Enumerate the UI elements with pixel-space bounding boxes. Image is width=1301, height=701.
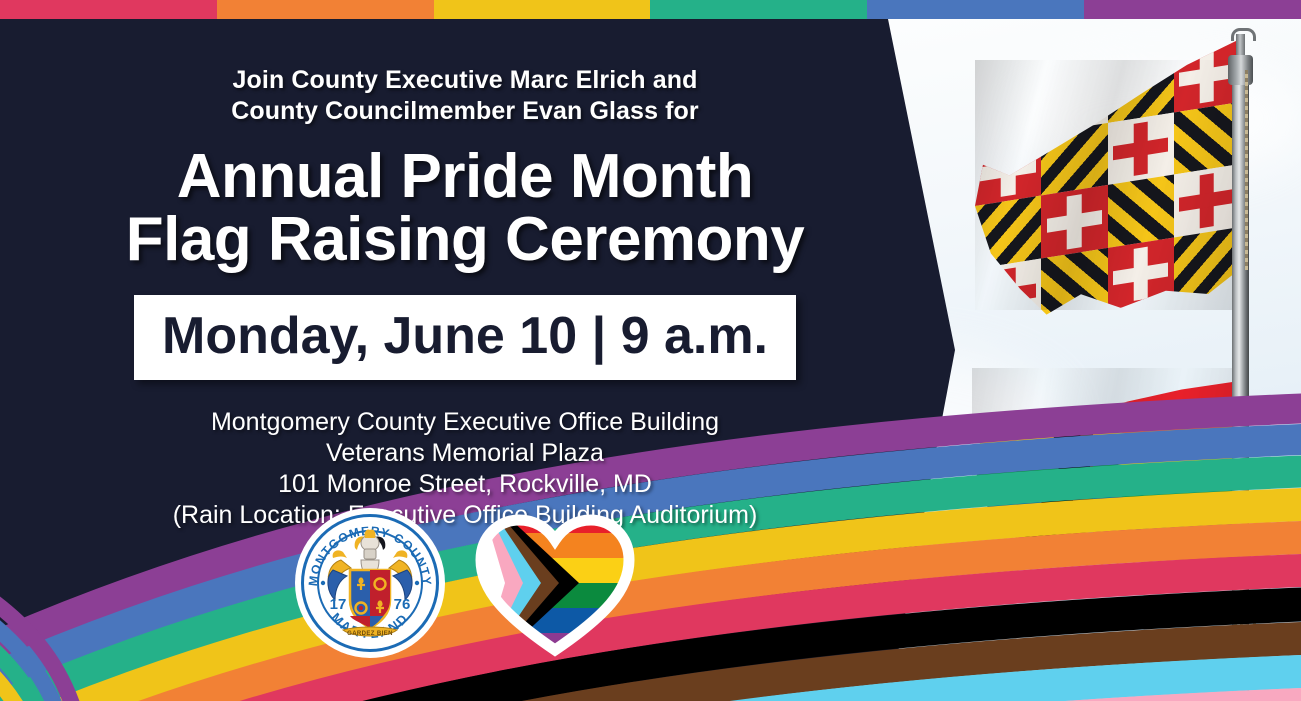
poster-text-content: Join County Executive Marc Elrich and Co… bbox=[0, 19, 930, 531]
flag-quarter bbox=[1041, 60, 1107, 133]
flag-quarter bbox=[1108, 50, 1174, 123]
seal-motto: GARDEZ BIEN bbox=[347, 631, 393, 637]
flag-quarter bbox=[1108, 175, 1174, 248]
halyard-loop bbox=[1234, 552, 1254, 582]
flag-quarter bbox=[975, 133, 1041, 206]
seal-motto-scroll: GARDEZ BIEN bbox=[343, 627, 397, 637]
stripe-band-green bbox=[650, 0, 867, 19]
halyard-loop bbox=[1234, 600, 1256, 640]
kicker-line-2: County Councilmember Evan Glass for bbox=[0, 96, 930, 127]
halyard-rope bbox=[1245, 70, 1248, 270]
pride-chevron-group bbox=[972, 354, 1093, 557]
venue-line-3: 101 Monroe Street, Rockville, MD bbox=[0, 469, 930, 500]
maryland-state-flag bbox=[975, 60, 1240, 310]
stripe-band-blue bbox=[867, 0, 1084, 19]
venue-line-2: Veterans Memorial Plaza bbox=[0, 438, 930, 469]
progress-pride-flag bbox=[972, 368, 1234, 558]
flag-quarter bbox=[1108, 112, 1174, 185]
heart-artwork bbox=[475, 508, 635, 658]
seal-year-right: 76 bbox=[394, 596, 411, 613]
headline-line-2: Flag Raising Ceremony bbox=[0, 208, 930, 271]
seal-year-left: 17 bbox=[330, 596, 347, 613]
flag-quarter bbox=[1174, 102, 1240, 175]
stripe-band-pink bbox=[0, 0, 217, 19]
seal-shield bbox=[350, 570, 390, 628]
progress-pride-heart-icon bbox=[475, 508, 635, 658]
stripe-band-yellow bbox=[434, 0, 651, 19]
flag-quarter bbox=[1108, 237, 1174, 310]
top-color-stripe bbox=[0, 0, 1301, 19]
flag-quarter bbox=[975, 70, 1041, 143]
stripe-band-purple bbox=[1084, 0, 1301, 19]
flag-quarter bbox=[975, 195, 1041, 268]
flag-quarter bbox=[1041, 248, 1107, 321]
seal-dot bbox=[321, 581, 325, 585]
kicker-line-1: Join County Executive Marc Elrich and bbox=[0, 19, 930, 96]
seal-artwork: MONTGOMERY COUNTY MARYLAND bbox=[295, 508, 445, 658]
flag-pole-cap bbox=[1228, 55, 1253, 85]
flag-quarter bbox=[1174, 227, 1240, 300]
date-time-banner: Monday, June 10 | 9 a.m. bbox=[134, 295, 796, 380]
flag-quarter bbox=[1041, 123, 1107, 196]
seal-dot bbox=[415, 581, 419, 585]
stripe-band-orange bbox=[217, 0, 434, 19]
headline-line-1: Annual Pride Month bbox=[0, 145, 930, 208]
logo-row: MONTGOMERY COUNTY MARYLAND bbox=[0, 508, 930, 658]
flag-quarter bbox=[1041, 185, 1107, 258]
flag-quarter bbox=[1174, 164, 1240, 237]
pride-flag-raising-poster: Join County Executive Marc Elrich and Co… bbox=[0, 0, 1301, 701]
venue-line-1: Montgomery County Executive Office Build… bbox=[0, 407, 930, 438]
montgomery-county-maryland-seal: MONTGOMERY COUNTY MARYLAND bbox=[295, 508, 445, 658]
